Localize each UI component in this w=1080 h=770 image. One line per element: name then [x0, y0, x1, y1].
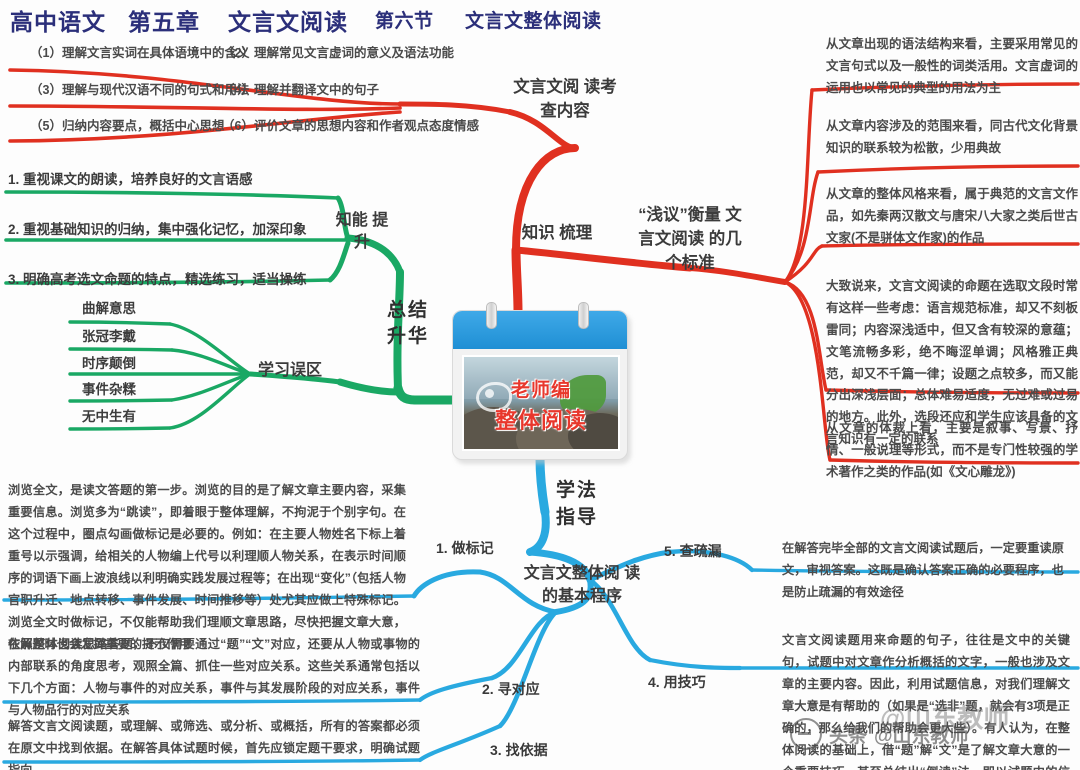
blue-step-label-4: 4. 用技巧 [648, 672, 706, 692]
card-header-bar [453, 311, 627, 349]
node-zhishi-shuli: 知识 梳理 [521, 222, 593, 246]
watermark-brand: 头条 [829, 721, 867, 748]
node-kaocha-neirong: 文言文阅 读考查内容 [505, 76, 625, 124]
zhineng-item-3: 3. 明确高考选文命题的特点，精选练习，适当操练 [8, 268, 307, 288]
header-section-title: 文言文整体阅读 [465, 6, 602, 33]
kaocha-item-6: （6）评价文章的思想内容和作者观点态度情感 [222, 115, 479, 134]
center-card: 老师编 整体阅读 [452, 310, 628, 460]
zhineng-item-2: 2. 重视基础知识的归纳，集中强化记忆，加深印象 [8, 218, 307, 238]
header-subject: 高中语文 [10, 3, 106, 37]
card-body: 老师编 整体阅读 [452, 310, 628, 460]
biaozhun-para-1: 从文章出现的语法结构来看，主要采用常见的文言句式以及一般性的词类活用。文言虚词的… [826, 34, 1078, 100]
node-xuefa-zhidao: 学法 指导 [545, 478, 609, 531]
node-zhineng-tisheng: 知能 提升 [333, 210, 391, 255]
header-chapter: 第五章 [128, 3, 200, 37]
biaozhun-para-3: 从文章的整体风格来看，属于典范的文言文作品，如先秦两汉散文与唐宋八大家之类后世古… [826, 184, 1078, 250]
wuqu-item-5: 无中生有 [82, 405, 136, 425]
node-xuexi-wuqu: 学习误区 [246, 360, 334, 382]
kaocha-item-5: （5）归纳内容要点，概括中心思想 [30, 115, 224, 134]
wuqu-item-1: 曲解意思 [82, 297, 136, 317]
blue-step-label-3: 3. 找依据 [490, 740, 548, 760]
blue-step-detail-1: 浏览全文，是读文答题的第一步。浏览的目的是了解文章主要内容，采集重要信息。浏览多… [8, 480, 406, 656]
card-photo: 老师编 整体阅读 [462, 355, 620, 451]
blue-step-detail-3: 解答文言文阅读题，或理解、或筛选、或分析、或概括，所有的答案都必须在原文中找到依… [8, 716, 420, 770]
blue-step-detail-2: 依照整体阅读思路答题，不仅需要通过“题”“文”对应，还要从人物或事物的内部联系的… [8, 634, 420, 722]
wuqu-item-2: 张冠李戴 [82, 325, 136, 345]
mindmap-page: 高中语文 第五章 文言文阅读 第六节 文言文整体阅读 （1）理解文言实词在具体语… [0, 0, 1080, 770]
card-ring-right [578, 302, 589, 329]
card-title-line2: 整体阅读 [464, 403, 618, 435]
blue-step-detail-5: 在解答完毕全部的文言文阅读试题后，一定要重读原文，审视答案。这既是确认答案正确的… [782, 538, 1064, 604]
biaozhun-para-5: 从文章的体裁上看，主要是叙事、写景、抒情、一般说理等形式，而不是专门性较强的学术… [826, 418, 1078, 484]
node-qianyi-biaozhun: “浅议”衡量 文言文阅读 的几个标准 [635, 204, 745, 276]
node-zongjie-shenghua: 总结 升华 [378, 298, 438, 349]
kaocha-item-4: （4）理解并翻译文中的句子 [222, 79, 379, 98]
card-title-line1: 老师编 [464, 375, 618, 402]
toutiao-logo-icon [790, 718, 822, 750]
kaocha-item-1: （1）理解文言实词在具体语境中的含义 [30, 42, 249, 61]
blue-step-label-5: 5. 查疏漏 [664, 541, 722, 561]
kaocha-item-3: （3）理解与现代汉语不同的句式和用法 [30, 79, 249, 98]
header-section: 第六节 [375, 6, 434, 33]
blue-step-label-1: 1. 做标记 [436, 538, 494, 558]
card-ring-left [486, 302, 497, 329]
node-jiben-chengxu: 文言文整体阅 读的基本程序 [521, 562, 643, 608]
blue-step-label-2: 2. 寻对应 [482, 679, 540, 699]
biaozhun-para-2: 从文章内容涉及的范围来看，同古代文化背景知识的联系较为松散，少用典故 [826, 116, 1078, 160]
kaocha-item-2: （2）理解常见文言虚词的意义及语法功能 [222, 42, 454, 61]
wuqu-item-3: 时序颠倒 [82, 352, 136, 372]
header-chapter-title: 文言文阅读 [228, 3, 348, 37]
zhineng-item-1: 1. 重视课文的朗读，培养良好的文言语感 [8, 168, 253, 188]
watermark: 头条 @山东教师 [790, 718, 969, 750]
watermark-account: @山东教师 [874, 721, 969, 748]
wuqu-item-4: 事件杂糅 [82, 378, 136, 398]
